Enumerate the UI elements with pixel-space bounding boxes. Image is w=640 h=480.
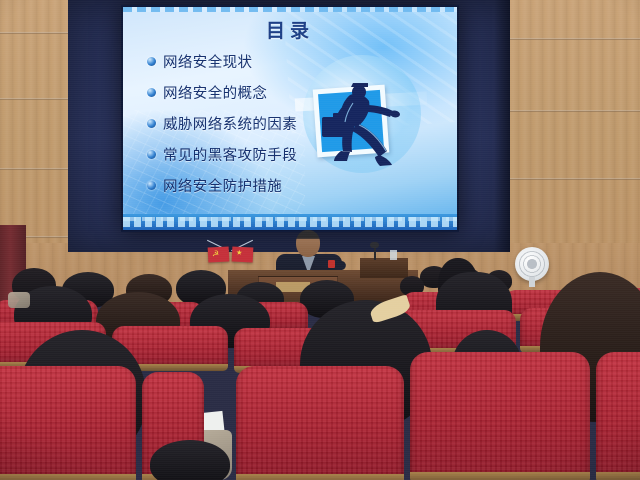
projection-screen: 目录 网络安全现状 网络安全的概念 威胁网络系统的因素 常见的黑客攻防手段 [121,5,459,232]
screen-edge-shadow [494,0,510,252]
fan-neck [529,277,535,287]
microphone-stand [374,246,376,260]
slide-top-decor-band [123,7,457,12]
slide-bullet-label: 威胁网络系统的因素 [163,113,297,134]
speaker-head [296,230,320,257]
bullet-dot-icon [147,119,156,128]
slide-bullet-label: 常见的黑客攻防手段 [163,144,297,165]
slide-bullet-label: 网络安全现状 [163,51,252,72]
bullet-dot-icon [147,57,156,66]
bullet-dot-icon [147,88,156,97]
microphone-icon [370,242,379,248]
bullet-dot-icon [147,150,156,159]
side-table [360,258,408,278]
speaker-badge [328,260,335,268]
businessman-leaping-silhouette-icon [309,65,429,175]
slide-bottom-decor-band [123,214,457,230]
hammer-sickle-icon: ☭ [212,250,220,258]
slide-bullet-label: 网络安全防护措施 [163,175,282,196]
slide-title: 目录 [123,16,457,43]
seat [0,366,136,480]
water-cup [390,250,397,260]
bullet-dot-icon [147,181,156,190]
slide-bullet-item: 网络安全防护措施 [147,171,362,199]
small-bag [8,292,30,308]
cpc-party-flag: ☭ [208,246,230,262]
presentation-slide: 目录 网络安全现状 网络安全的概念 威胁网络系统的因素 常见的黑客攻防手段 [123,7,457,230]
audience-head [150,440,230,480]
seat [596,352,640,480]
businessman-svg [309,65,429,175]
electric-fan-icon [515,247,549,281]
slide-bullet-label: 网络安全的概念 [163,82,267,103]
seat [236,366,404,480]
seat [410,352,590,480]
auditorium-photo: 目录 网络安全现状 网络安全的概念 威胁网络系统的因素 常见的黑客攻防手段 [0,0,640,480]
